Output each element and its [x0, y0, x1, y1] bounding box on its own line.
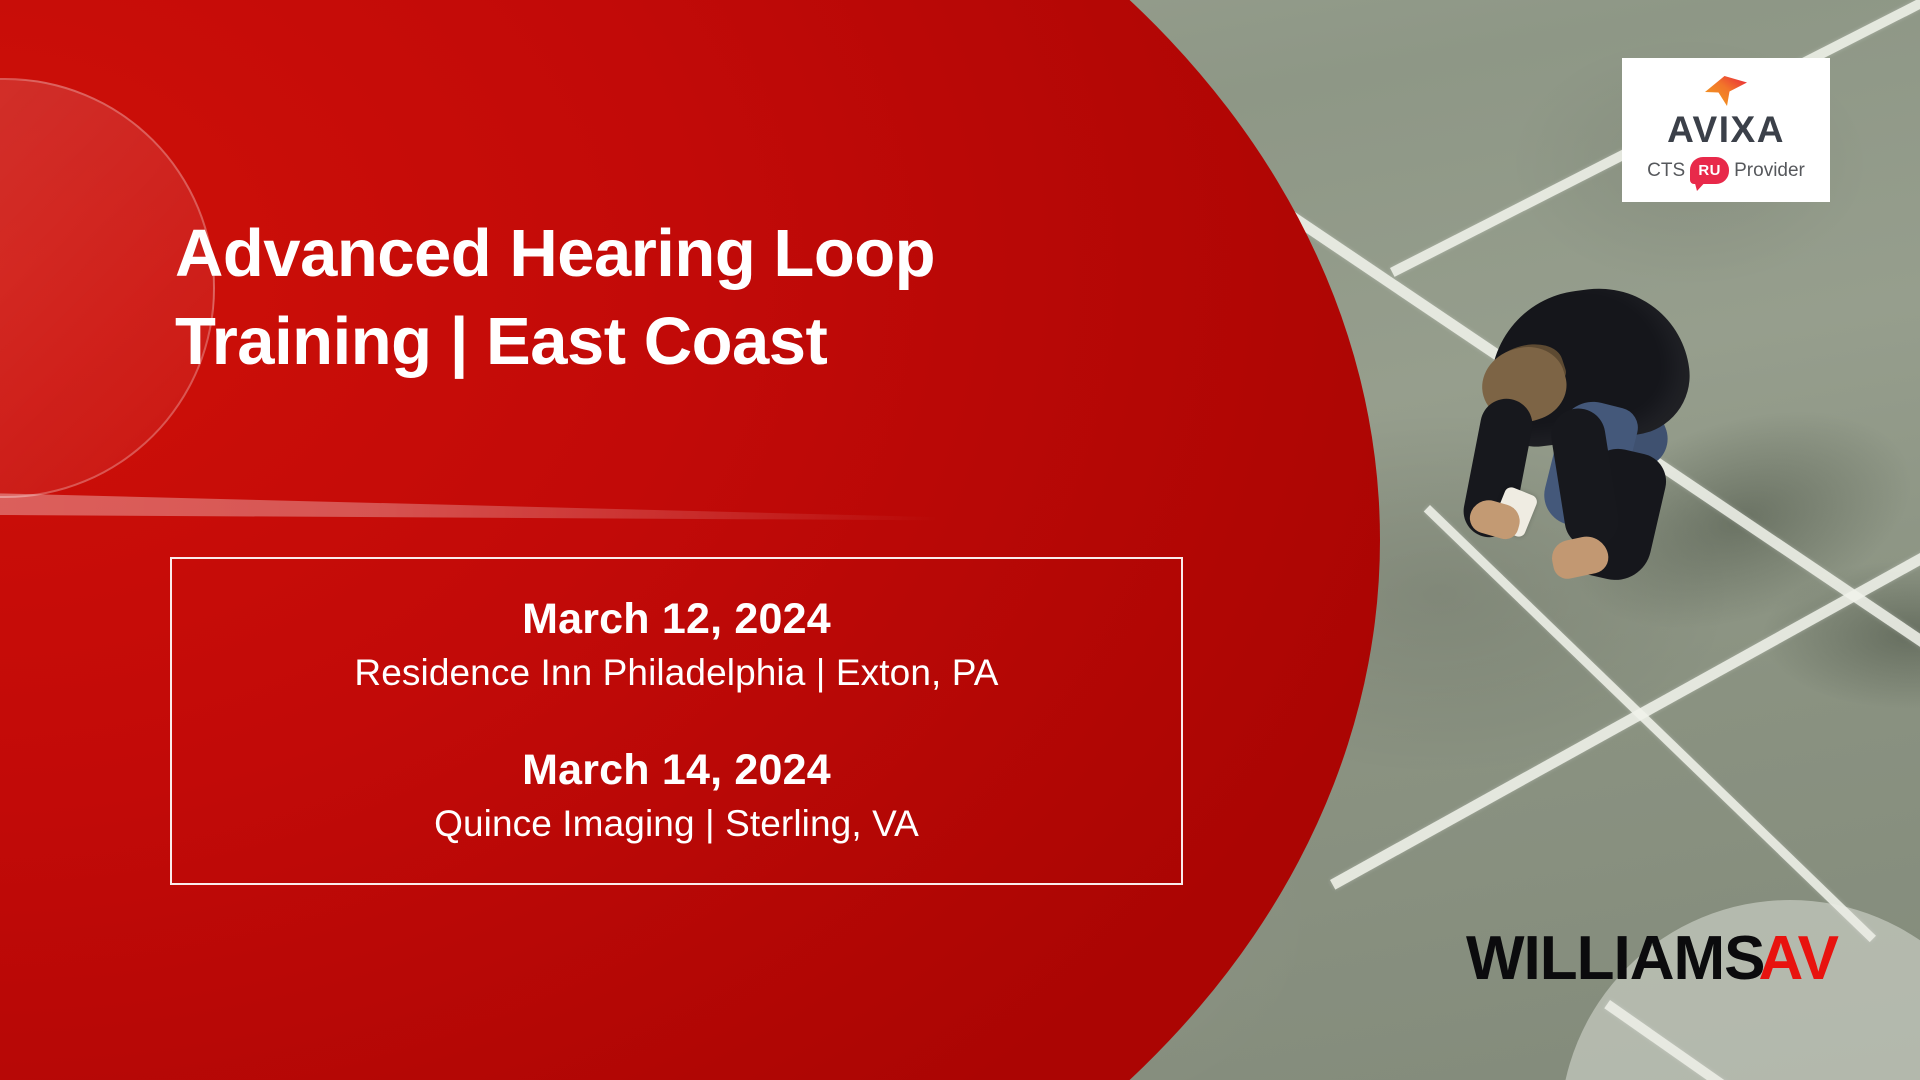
event-date: March 14, 2024 — [434, 745, 919, 796]
avixa-wordmark: AVIXA — [1667, 111, 1785, 148]
event-venue: Quince Imaging | Sterling, VA — [434, 800, 919, 848]
worker-figure — [1430, 290, 1760, 620]
event-venue: Residence Inn Philadelphia | Exton, PA — [354, 649, 998, 697]
event-entry: March 14, 2024 Quince Imaging | Sterling… — [434, 745, 919, 848]
cts-label: CTS — [1647, 161, 1685, 180]
avixa-logo-icon — [1705, 76, 1747, 106]
provider-label: Provider — [1734, 161, 1805, 180]
red-brand-shape — [0, 0, 1380, 1080]
williams-wordmark: WILLIAMS — [1466, 928, 1765, 990]
av-wordmark: AV — [1759, 928, 1839, 990]
page-title: Advanced Hearing Loop Training | East Co… — [175, 210, 1195, 387]
ru-badge: RU — [1690, 157, 1729, 184]
event-details-box: March 12, 2024 Residence Inn Philadelphi… — [170, 557, 1183, 885]
event-date: March 12, 2024 — [354, 594, 998, 645]
event-entry: March 12, 2024 Residence Inn Philadelphi… — [354, 594, 998, 697]
promotional-banner: Advanced Hearing Loop Training | East Co… — [0, 0, 1920, 1080]
headline-line-2: Training | East Coast — [175, 298, 1195, 386]
headline-line-1: Advanced Hearing Loop — [175, 210, 1195, 298]
williams-av-logo: WILLIAMS AV — [1466, 928, 1838, 990]
avixa-subtitle: CTS RU Provider — [1647, 157, 1805, 184]
avixa-certification-badge: AVIXA CTS RU Provider — [1622, 58, 1830, 202]
